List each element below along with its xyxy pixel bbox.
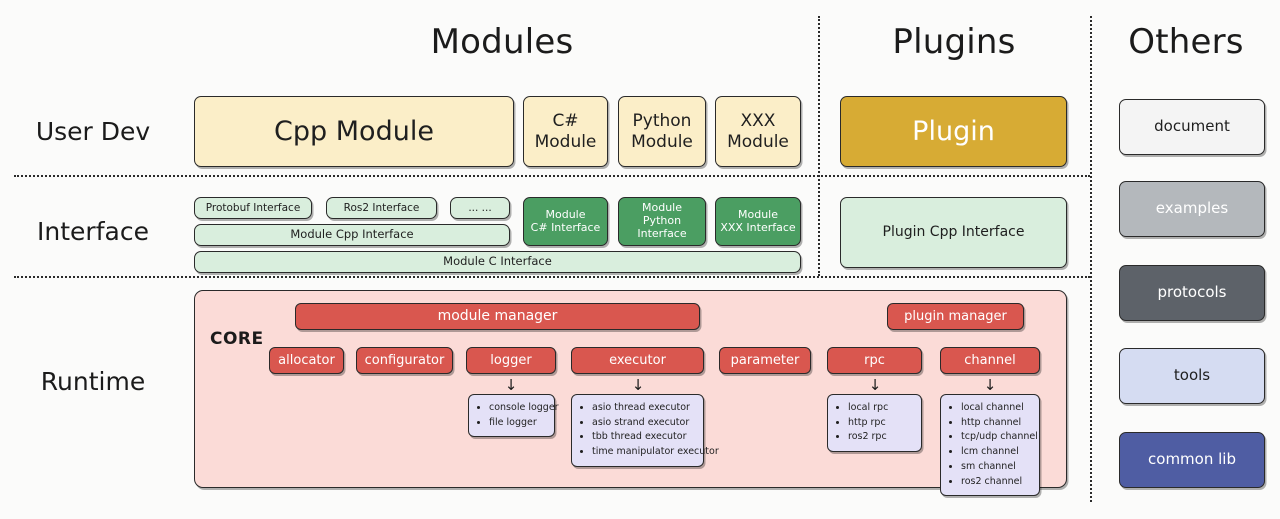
- box-xxx-module-line1: XXX: [741, 111, 776, 131]
- box-plugin-manager[interactable]: plugin manager: [887, 303, 1024, 330]
- box-configurator[interactable]: configurator: [356, 347, 453, 374]
- list-item: file logger: [489, 416, 548, 431]
- box-protobuf-interface[interactable]: Protobuf Interface: [194, 197, 312, 219]
- box-python-module-line1: Python: [633, 111, 692, 131]
- box-cs-module-line2: Module: [535, 132, 597, 152]
- list-item: asio thread executor: [592, 401, 697, 416]
- arrow-down-icon-channel: ↓: [983, 378, 997, 393]
- divider-user-dev-interface: [14, 175, 1090, 177]
- arrow-down-icon-rpc: ↓: [868, 378, 882, 393]
- box-xxx-module-line2: Module: [727, 132, 789, 152]
- list-item: local channel: [961, 401, 1033, 416]
- box-protocols[interactable]: protocols: [1119, 265, 1265, 321]
- list-item: http channel: [961, 416, 1033, 431]
- list-item: ros2 rpc: [848, 430, 915, 445]
- core-label: CORE: [210, 329, 264, 349]
- rpc-items-list: local rpchttp rpcros2 rpc: [836, 401, 915, 445]
- box-plugin-cpp-interface[interactable]: Plugin Cpp Interface: [840, 197, 1067, 268]
- box-plugin[interactable]: Plugin: [840, 96, 1067, 167]
- box-allocator[interactable]: allocator: [269, 347, 344, 374]
- box-module-python-interface[interactable]: Module Python Interface: [618, 197, 706, 246]
- box-document[interactable]: document: [1119, 99, 1265, 155]
- box-logger[interactable]: logger: [466, 347, 556, 374]
- box-cs-module[interactable]: C# Module: [523, 96, 608, 167]
- row-label-runtime: Runtime: [0, 367, 186, 396]
- logger-items-list: console loggerfile logger: [477, 401, 548, 430]
- list-item: ros2 channel: [961, 475, 1033, 490]
- box-examples[interactable]: examples: [1119, 181, 1265, 237]
- channel-items-list: local channelhttp channeltcp/udp channel…: [949, 401, 1033, 489]
- box-more-interfaces[interactable]: ... ...: [450, 197, 510, 219]
- box-cs-module-line1: C#: [552, 111, 578, 131]
- box-xxx-module[interactable]: XXX Module: [715, 96, 801, 167]
- box-module-cs-interface-line2: C# Interface: [531, 222, 601, 235]
- list-logger-implementations: console loggerfile logger: [468, 394, 555, 437]
- column-header-modules: Modules: [186, 22, 818, 62]
- divider-modules-plugins: [818, 16, 820, 276]
- box-module-cpp-interface[interactable]: Module Cpp Interface: [194, 224, 510, 246]
- box-module-xxx-interface-line2: XXX Interface: [720, 222, 795, 235]
- row-label-interface: Interface: [0, 217, 186, 246]
- box-rpc[interactable]: rpc: [827, 347, 922, 374]
- box-module-cs-interface-line1: Module: [546, 209, 586, 222]
- box-common-lib[interactable]: common lib: [1119, 432, 1265, 488]
- list-channel-implementations: local channelhttp channeltcp/udp channel…: [940, 394, 1040, 496]
- list-item: asio strand executor: [592, 416, 697, 431]
- arrow-down-icon-executor: ↓: [631, 378, 645, 393]
- list-item: tbb thread executor: [592, 430, 697, 445]
- list-item: lcm channel: [961, 445, 1033, 460]
- box-module-cs-interface[interactable]: Module C# Interface: [523, 197, 608, 246]
- box-module-xxx-interface[interactable]: Module XXX Interface: [715, 197, 801, 246]
- box-module-c-interface[interactable]: Module C Interface: [194, 251, 801, 273]
- box-executor[interactable]: executor: [571, 347, 704, 374]
- list-item: console logger: [489, 401, 548, 416]
- box-tools[interactable]: tools: [1119, 348, 1265, 404]
- list-rpc-implementations: local rpchttp rpcros2 rpc: [827, 394, 922, 452]
- list-item: sm channel: [961, 460, 1033, 475]
- list-item: tcp/udp channel: [961, 430, 1033, 445]
- box-cpp-module[interactable]: Cpp Module: [194, 96, 514, 167]
- divider-plugins-others: [1090, 16, 1092, 502]
- box-module-manager[interactable]: module manager: [295, 303, 700, 330]
- box-module-python-interface-line2: Python Interface: [619, 215, 705, 241]
- list-item: local rpc: [848, 401, 915, 416]
- column-header-others: Others: [1092, 22, 1280, 62]
- divider-interface-runtime: [14, 276, 1090, 278]
- box-channel[interactable]: channel: [940, 347, 1040, 374]
- column-header-plugins: Plugins: [820, 22, 1088, 62]
- row-label-user-dev: User Dev: [0, 117, 186, 146]
- arrow-down-icon-logger: ↓: [504, 378, 518, 393]
- box-ros2-interface[interactable]: Ros2 Interface: [326, 197, 437, 219]
- box-module-xxx-interface-line1: Module: [738, 209, 778, 222]
- executor-items-list: asio thread executorasio strand executor…: [580, 401, 697, 460]
- box-python-module-line2: Module: [631, 132, 693, 152]
- box-python-module[interactable]: Python Module: [618, 96, 706, 167]
- list-executor-implementations: asio thread executorasio strand executor…: [571, 394, 704, 467]
- list-item: http rpc: [848, 416, 915, 431]
- list-item: time manipulator executor: [592, 445, 697, 460]
- box-parameter[interactable]: parameter: [719, 347, 811, 374]
